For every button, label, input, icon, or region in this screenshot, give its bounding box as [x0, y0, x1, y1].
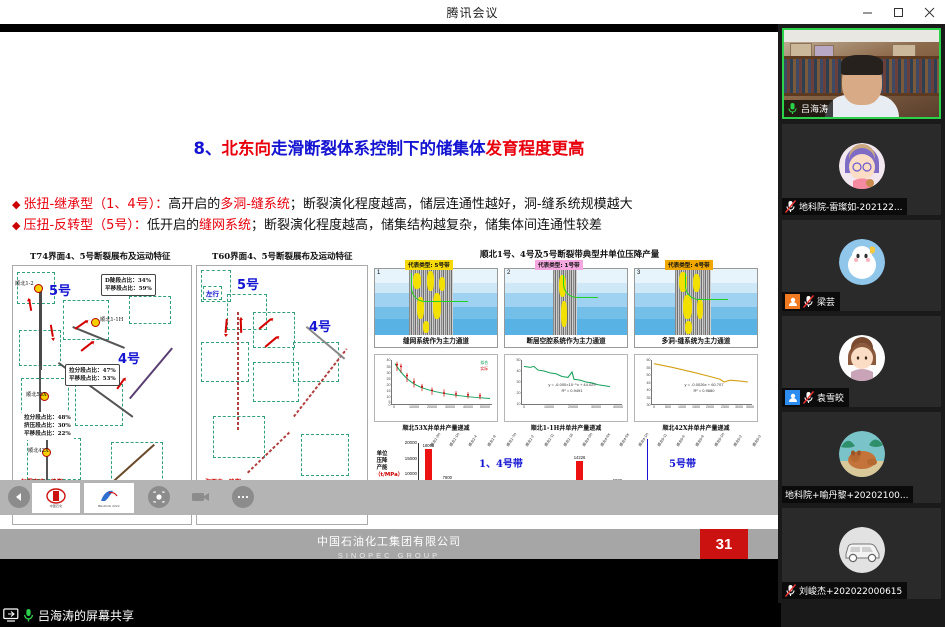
microphone-muted-icon — [803, 391, 814, 404]
bullet-item: ◆压扭-反转型（5号）：低开启的缝网系统；断裂演化程度越高，储集结构越复杂，储集… — [12, 215, 772, 236]
chart-annotation: y = -6.000×10⁻⁵x + 44.029 R² = 0.9491 — [542, 382, 602, 394]
x-tick: 0 — [523, 405, 525, 409]
y-tick: 15000 — [405, 456, 417, 461]
more-icon[interactable] — [232, 486, 254, 508]
bar-category-label: 顺北1-7H — [506, 432, 518, 447]
slide-title-part-1: 北东向 — [221, 139, 271, 158]
bullet-0-seg-0: 张扭-继承型（1、4号）： — [23, 197, 168, 212]
title-bar: 腾讯会议 — [0, 0, 945, 24]
y-tick: 25 — [387, 377, 391, 381]
seismic-image: 3 — [635, 269, 757, 335]
x-tick: 1000 — [678, 405, 686, 409]
map1-caption: T74界面4、5号断裂展布及运动特征 — [30, 250, 170, 262]
footer-brand: 中国石油化工集团有限公司 SINOPEC GROUP — [0, 532, 778, 560]
decline-chart-3: 60 55 50 45 40 35 30 0 500 1000 1500 200… — [634, 354, 758, 422]
status-text: 吕海涛的屏幕共享 — [38, 607, 134, 624]
x-tick: 20000 — [427, 405, 437, 409]
x-tick: 2000 — [706, 405, 714, 409]
y-tick: 40 — [517, 369, 521, 373]
bullet-1-seg-2: 缝网系统 — [199, 218, 251, 233]
legend-actual: 实际 — [480, 367, 488, 372]
seismic-badge-3: 代表类型: 4号带 — [665, 260, 713, 270]
y-tick: 20000 — [405, 440, 417, 445]
participant-tile-2[interactable]: 梁芸 — [782, 220, 941, 311]
zone-label-1-4: 1、4号带 — [479, 455, 523, 470]
bullet-0-seg-2: 多洞-缝系统 — [220, 197, 290, 212]
seismic-caption-3: 多洞-缝系统为主力通道 — [635, 335, 757, 345]
chart-annotation: y = -0.0026x + 60.707 R² = 0.9680 — [674, 382, 734, 394]
fault-zone-label-4: 4号 — [118, 348, 140, 367]
y-tick: 40 — [647, 388, 651, 392]
y-tick: 50 — [647, 373, 651, 377]
bar-category-label: 顺北5-8 — [695, 434, 706, 447]
x-tick: 20000 — [568, 405, 578, 409]
presentation-slide: 8、北东向走滑断裂体系控制下的储集体发育程度更高 ◆张扭-继承型（1、4号）：高… — [0, 32, 778, 559]
x-tick: 0 — [393, 405, 395, 409]
bar-category-label: 顺北1-1H — [449, 432, 461, 447]
microphone-muted-icon — [803, 295, 814, 308]
callout-line: D陡段占比：34% — [105, 277, 152, 285]
decline-chart-1: 40 35 30 25 20 15 10 5 0 0 10000 20000 3… — [374, 354, 498, 422]
bar-category-label: 顺北1-2 — [525, 434, 536, 447]
legend-fit: 拟合 — [480, 361, 488, 366]
decline-chart-1-caption: 顺北53X井单井产量递减 — [375, 423, 497, 432]
bar-category-label: 顺北5-1H — [714, 432, 726, 447]
participant-tile-3[interactable]: 袁雪皎 — [782, 316, 941, 407]
y-tick: 20 — [387, 383, 391, 387]
host-badge-icon — [785, 294, 800, 309]
participant-tile-4[interactable]: 地科院+喻丹黎+20202100... — [782, 412, 941, 503]
diamond-bullet-icon: ◆ — [12, 198, 20, 211]
fault-zone-label-4: 4号 — [309, 316, 331, 335]
seismic-number: 1 — [377, 270, 380, 276]
footer-brand-cn: 中国石油化工集团有限公司 — [317, 536, 461, 548]
avatar — [839, 527, 885, 573]
callout-line: 拉分段占比：47% — [69, 367, 116, 375]
bar-category-label: 顺北5-6 — [676, 434, 687, 447]
participant-name: 吕海涛 — [801, 102, 828, 115]
participant-name: 袁雪皎 — [817, 391, 844, 404]
slide-footer: 中国石油化工集团有限公司 SINOPEC GROUP 31 — [0, 529, 778, 559]
participant-namebar: 梁芸 — [782, 292, 840, 311]
participant-namebar: 袁雪皎 — [782, 388, 849, 407]
callout-box: 拉分段占比：47% 平移段占比：53% — [65, 364, 120, 386]
y-tick: 35 — [387, 365, 391, 369]
callout-line: 平移段占比：53% — [69, 375, 116, 383]
well-label: 顺北42X — [28, 447, 49, 454]
bar-category-label: 顺北4-1H — [638, 432, 650, 447]
bar-value-label: 14226 — [574, 455, 586, 460]
callout-line: 平移段占比：59% — [105, 285, 152, 293]
bar-category-label: 顺北5-11 — [657, 433, 669, 448]
participant-tile-1[interactable]: 地科院-雷璨如-202122... — [782, 124, 941, 215]
x-tick: 2500 — [721, 405, 729, 409]
participant-tile-0[interactable]: 吕海涛 — [782, 28, 941, 119]
logo-caption: BEIJING 2022 — [98, 504, 120, 508]
bar-category-label: 顺北2-4 — [468, 434, 479, 447]
decline-chart-2: 50 40 30 20 10 0 10000 20000 30000 40000… — [504, 354, 628, 422]
avatar — [839, 239, 885, 285]
zone-label-5: 5号带 — [669, 455, 696, 470]
seismic-number: 2 — [507, 270, 510, 276]
maximize-icon[interactable] — [883, 0, 914, 24]
seismic-image: 1 — [375, 269, 497, 335]
decline-chart-2-caption: 顺北1-1H井单井产量递减 — [505, 423, 627, 432]
stats-line: 平移段占比：22% — [24, 430, 71, 438]
microphone-muted-icon — [785, 200, 796, 213]
x-tick: 0 — [653, 405, 655, 409]
y-tick: 60 — [647, 358, 651, 362]
bullet-1-seg-1: 低开启的 — [147, 218, 199, 233]
screen-share-icon — [3, 608, 19, 622]
x-tick: 3500 — [746, 405, 754, 409]
seismic-number: 3 — [637, 270, 640, 276]
share-toolbar[interactable]: 中国石化 BEIJING 2022 — [0, 480, 778, 515]
participant-tile-5[interactable]: 刘峻杰+202022000615 — [782, 508, 941, 599]
avatar — [839, 431, 885, 477]
well-marker — [91, 318, 100, 327]
camera-icon[interactable] — [190, 486, 212, 508]
y-tick: 30 — [517, 380, 521, 384]
footer-brand-en: SINOPEC GROUP — [0, 551, 778, 560]
bullet-1-seg-3: ；断裂演化程度越高，储集结构越复杂，储集体间连通性较差 — [251, 218, 602, 233]
x-tick: 40000 — [463, 405, 473, 409]
avatar — [839, 335, 885, 381]
bar-chart-y-label: 单位压降产能 （t/MPa） — [375, 451, 389, 479]
decline-chart-3-caption: 顺北42X井单井产量递减 — [635, 423, 757, 432]
decline-curve-svg — [392, 360, 492, 404]
y-tick: 50 — [517, 358, 521, 362]
y-tick: 45 — [647, 381, 651, 385]
logo-caption: 中国石化 — [50, 504, 63, 508]
seismic-section-3: 代表类型: 4号带 3 多洞-缝系统为主力通道 — [634, 268, 758, 348]
participant-namebar: 刘峻杰+202022000615 — [782, 582, 907, 599]
x-tick: 10000 — [409, 405, 419, 409]
x-tick: 10000 — [544, 405, 554, 409]
bullet-item: ◆张扭-继承型（1、4号）：高开启的多洞-缝系统；断裂演化程度越高，储层连通性越… — [12, 194, 772, 215]
seismic-section-1: 代表类型: 5号带 1 缝网系统作为主力通 — [374, 268, 498, 348]
seismic-badge-1: 代表类型: 5号带 — [405, 260, 453, 270]
bullet-1-seg-0: 压扭-反转型（5号）： — [23, 218, 146, 233]
avatar — [839, 143, 885, 189]
seismic-section-2: 代表类型: 1号带 2 断层空腔系统作为主力通道 — [504, 268, 628, 348]
annotate-icon[interactable] — [148, 486, 170, 508]
x-tick: 30000 — [445, 405, 455, 409]
tencent-meeting-window: 腾讯会议 8、北东向走滑断裂体系控制下的储集体发育程度更高 ◆张扭-继承 — [0, 0, 945, 627]
chevron-left-icon[interactable] — [8, 486, 30, 508]
participant-sidebar[interactable]: 吕海涛 — [778, 24, 945, 627]
beijing-2022-logo: BEIJING 2022 — [84, 483, 134, 513]
y-tick: 55 — [647, 366, 651, 370]
y-tick: 15 — [387, 389, 391, 393]
participant-namebar: 地科院+喻丹黎+20202100... — [782, 486, 913, 503]
chart-plot-area: 50 40 30 20 10 0 10000 20000 30000 40000… — [521, 360, 622, 405]
stats-box: 拉分段占比：48% 挤压段占比：30% 平移段占比：22% — [21, 412, 74, 440]
callout-box: D陡段占比：34% 平移段占比：59% — [101, 274, 156, 296]
bar-category-label: 顺北5-2 — [733, 434, 744, 447]
bar-category-label: 顺北4-2H — [582, 432, 594, 447]
bar-category-label: 顺北1-16 — [563, 433, 575, 448]
bullet-0-seg-3: ；断裂演化程度越高，储层连通性越好，洞-缝系统规模越大 — [290, 197, 633, 212]
fault-zone-label-5: 5号 — [49, 280, 71, 299]
y-tick: 40 — [387, 358, 391, 362]
y-tick: 35 — [647, 396, 651, 400]
y-tick: 0 — [389, 403, 391, 407]
microphone-muted-icon — [785, 584, 796, 597]
participant-namebar: 地科院-雷璨如-202122... — [782, 198, 907, 215]
y-tick: 20 — [517, 391, 521, 395]
well-marker — [34, 284, 43, 293]
slide-title-part-3: 发育程度更高 — [485, 139, 584, 158]
bar-category-label: 顺北4-5X — [619, 432, 631, 447]
shared-screen-stage[interactable]: 8、北东向走滑断裂体系控制下的储集体发育程度更高 ◆张扭-继承型（1、4号）：高… — [0, 24, 778, 603]
sinopec-logo: 中国石化 — [32, 483, 80, 513]
chart-plot-area: 40 35 30 25 20 15 10 5 0 0 10000 20000 3… — [391, 360, 492, 405]
well-label: 顺北1-2 — [15, 280, 34, 287]
well-label: 顺北53X — [26, 391, 47, 398]
seismic-caption: 顺北1号、4号及5号断裂带典型井单位压降产量 — [480, 248, 659, 260]
slide-title-part-2: 走滑断裂体系控制下的储集体 — [271, 139, 486, 158]
y-axis-title: 单位压降产能 — [377, 451, 388, 471]
x-tick: 30000 — [591, 405, 601, 409]
participant-namebar: 吕海涛 — [784, 100, 833, 117]
bar-category-label: 顺北1-11 — [544, 433, 556, 448]
y-tick: 30 — [387, 371, 391, 375]
map2-caption: T60界面4、5号断裂展布及运动特征 — [212, 250, 352, 262]
x-tick: 50000 — [480, 405, 490, 409]
slide-bullet-list: ◆张扭-继承型（1、4号）：高开启的多洞-缝系统；断裂演化程度越高，储层连通性越… — [12, 194, 772, 236]
participant-name: 地科院+喻丹黎+20202100... — [785, 488, 908, 501]
window-title: 腾讯会议 — [446, 4, 498, 21]
x-tick: 1500 — [692, 405, 700, 409]
stats-line: 挤压段占比：30% — [24, 422, 71, 430]
well-label: 顺北1-1H — [100, 316, 123, 323]
annotation-line: R² = 0.9680 — [674, 388, 734, 394]
participant-name: 梁芸 — [817, 295, 835, 308]
microphone-icon — [787, 102, 798, 115]
stats-line: 拉分段占比：48% — [24, 414, 71, 422]
close-icon[interactable] — [914, 0, 945, 24]
slide-title: 8、北东向走滑断裂体系控制下的储集体发育程度更高 — [0, 135, 778, 159]
microphone-icon — [23, 608, 34, 623]
window-controls — [852, 0, 945, 24]
fault-zone-label-5: 5号 — [237, 274, 259, 293]
diamond-bullet-icon: ◆ — [12, 219, 20, 232]
bar-category-label: 顺北5-3 — [752, 434, 763, 447]
participant-name: 刘峻杰+202022000615 — [799, 584, 902, 597]
bar-category-label: 顺北4-6X — [600, 432, 612, 447]
y-axis-unit: （t/MPa） — [375, 472, 403, 478]
bar-category-label: 顺北1-2H — [430, 432, 442, 447]
slide-title-part-0: 8、 — [194, 139, 222, 158]
x-tick: 500 — [665, 405, 671, 409]
slide-page-number: 31 — [700, 529, 748, 559]
left-lateral-label: 左行 — [203, 286, 222, 300]
y-tick: 10000 — [405, 471, 417, 476]
participant-name: 地科院-雷璨如-202122... — [799, 200, 902, 213]
bullet-0-seg-1: 高开启的 — [168, 197, 220, 212]
seismic-caption-2: 断层空腔系统作为主力通道 — [505, 335, 627, 345]
seismic-badge-2: 代表类型: 1号带 — [535, 260, 583, 270]
annotation-line: R² = 0.9491 — [542, 388, 602, 394]
y-tick: 10 — [387, 395, 391, 399]
seismic-image: 2 — [505, 269, 627, 335]
seismic-caption-1: 缝网系统作为主力通道 — [375, 335, 497, 345]
y-tick: 30 — [647, 403, 651, 407]
status-bar: 吕海涛的屏幕共享 — [0, 603, 781, 627]
x-tick: 3000 — [735, 405, 743, 409]
chart-plot-area: 60 55 50 45 40 35 30 0 500 1000 1500 200… — [651, 360, 752, 405]
host-badge-icon — [785, 390, 800, 405]
bar-category-label: 顺北1-8 — [487, 434, 498, 447]
y-tick: 10 — [517, 402, 521, 406]
x-tick: 40000 — [613, 405, 623, 409]
minimize-icon[interactable] — [852, 0, 883, 24]
